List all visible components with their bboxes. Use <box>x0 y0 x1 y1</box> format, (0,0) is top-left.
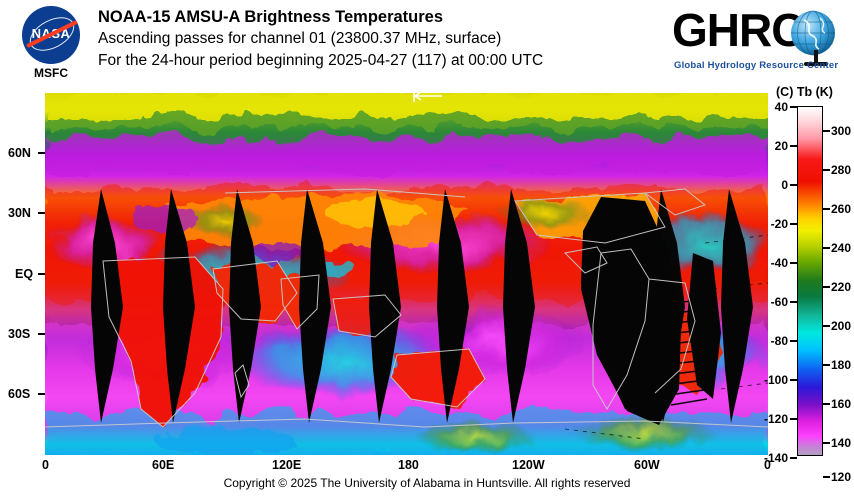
y-tick-mark <box>38 212 45 214</box>
page-subtitle-channel: Ascending passes for channel 01 (23800.3… <box>98 28 543 50</box>
msfc-label: MSFC <box>14 66 88 80</box>
cb-tick-k <box>823 364 830 366</box>
cb-tick-k <box>823 325 830 327</box>
cb-tick-k <box>823 130 830 132</box>
y-tick-mark <box>38 393 45 395</box>
cb-tick-c <box>790 379 797 381</box>
x-tick-0w: 0 <box>42 458 49 472</box>
x-tick-60e: 60E <box>152 458 174 472</box>
x-tick-120e: 120E <box>272 458 301 472</box>
colorbar[interactable] <box>797 106 823 456</box>
ghrc-logo: GHRC Global Hydrology Resource Center <box>672 4 840 78</box>
cb-tick-k <box>823 442 830 444</box>
globe-icon <box>790 10 836 56</box>
cb-tick-k <box>823 169 830 171</box>
y-tick-mark <box>38 333 45 335</box>
y-tick-30n: 30N <box>8 206 31 220</box>
x-tick-60w: 60W <box>634 458 660 472</box>
cb-kelvin-300: 300 <box>831 124 851 138</box>
cb-kelvin-160: 160 <box>831 397 851 411</box>
brightness-temperature-map[interactable] <box>45 93 768 455</box>
cb-kelvin-140: 140 <box>831 436 851 450</box>
cb-celsius-m60: -60 <box>748 295 788 309</box>
y-tick-eq: EQ <box>15 267 33 281</box>
cb-kelvin-260: 260 <box>831 202 851 216</box>
cb-kelvin-280: 280 <box>831 163 851 177</box>
cb-tick-c <box>790 301 797 303</box>
ghrc-tagline: Global Hydrology Resource Center <box>674 60 838 71</box>
copyright-notice: Copyright © 2025 The University of Alaba… <box>0 476 854 490</box>
cb-celsius-m80: -80 <box>748 334 788 348</box>
nasa-logo: NASA MSFC <box>14 4 86 84</box>
title-block: NOAA-15 AMSU-A Brightness Temperatures A… <box>98 6 543 72</box>
y-tick-30s: 30S <box>8 327 30 341</box>
cb-tick-c <box>790 145 797 147</box>
cb-tick-c <box>790 340 797 342</box>
nasa-meatball-icon: NASA <box>22 6 80 64</box>
cb-tick-k <box>823 286 830 288</box>
cb-celsius-m40: -40 <box>748 256 788 270</box>
colorbar-gradient <box>797 106 823 456</box>
cb-tick-c <box>790 457 797 459</box>
cb-celsius-40: 40 <box>748 100 788 114</box>
cb-celsius-m120: -120 <box>745 412 788 426</box>
map-raster <box>45 93 768 455</box>
cb-celsius-m140: -140 <box>745 451 788 465</box>
page-subtitle-period: For the 24-hour period beginning 2025-04… <box>98 50 543 72</box>
cb-kelvin-220: 220 <box>831 280 851 294</box>
ghrc-wordmark: GHRC <box>672 4 803 56</box>
cb-kelvin-240: 240 <box>831 241 851 255</box>
y-tick-mark <box>38 273 45 275</box>
cb-celsius-20: 20 <box>748 139 788 153</box>
y-tick-60s: 60S <box>8 387 30 401</box>
cb-tick-k <box>823 403 830 405</box>
cb-tick-c <box>790 184 797 186</box>
page-title: NOAA-15 AMSU-A Brightness Temperatures <box>98 6 543 28</box>
x-tick-180: 180 <box>398 458 419 472</box>
y-tick-mark <box>38 152 45 154</box>
cb-tick-k <box>823 247 830 249</box>
header: NASA MSFC NOAA-15 AMSU-A Brightness Temp… <box>0 0 854 88</box>
x-tick-120w: 120W <box>512 458 545 472</box>
cb-kelvin-180: 180 <box>831 358 851 372</box>
cb-celsius-m100: -100 <box>745 373 788 387</box>
cb-tick-c <box>790 106 797 108</box>
cb-tick-c <box>790 418 797 420</box>
cb-tick-k <box>823 208 830 210</box>
cb-tick-c <box>790 262 797 264</box>
cb-celsius-m20: -20 <box>748 217 788 231</box>
colorbar-header: (C) Tb (K) <box>776 85 833 99</box>
left-arrow-bar-cursor <box>412 89 444 103</box>
cb-tick-c <box>790 223 797 225</box>
cb-kelvin-200: 200 <box>831 319 851 333</box>
y-tick-60n: 60N <box>8 146 31 160</box>
cb-celsius-0: 0 <box>748 178 788 192</box>
